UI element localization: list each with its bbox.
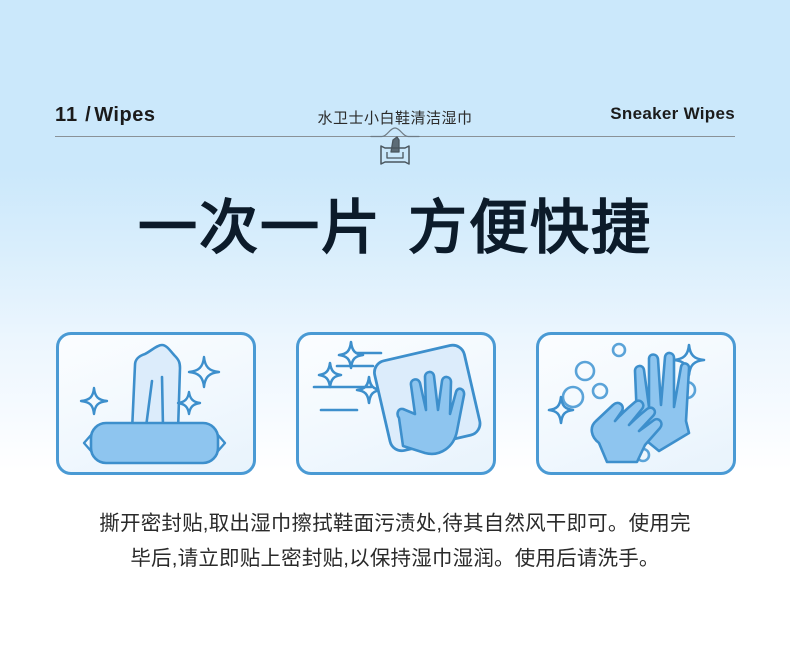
title-part-two: 方便快捷 <box>408 195 652 261</box>
title-part-one: 一次一片 <box>138 195 382 261</box>
instruction-line-1: 撕开密封贴,取出湿巾擦拭鞋面污渍处,待其自然风干即可。使用完 <box>45 506 745 541</box>
card-wash-hands <box>536 332 736 475</box>
washing-hands-icon <box>539 335 733 472</box>
tissue-box-icon <box>363 124 427 170</box>
product-title-en: Sneaker Wipes <box>610 104 735 124</box>
instruction-text: 撕开密封贴,取出湿巾擦拭鞋面污渍处,待其自然风干即可。使用完 毕后,请立即贴上密… <box>45 506 745 577</box>
card-tear-open-pack <box>56 332 256 475</box>
wipes-pack-with-tissue-icon <box>59 335 253 472</box>
card-wipe-surface <box>296 332 496 475</box>
instruction-line-2: 毕后,请立即贴上密封贴,以保持湿巾湿润。使用后请洗手。 <box>45 541 745 576</box>
slide-page: 11/Wipes 水卫士小白鞋清洁湿巾 Sneaker Wipes 一次一片方便… <box>0 0 790 654</box>
page-title: 一次一片方便快捷 <box>0 196 790 261</box>
hand-wiping-cloth-icon <box>299 335 493 472</box>
step-card-list <box>56 332 736 477</box>
